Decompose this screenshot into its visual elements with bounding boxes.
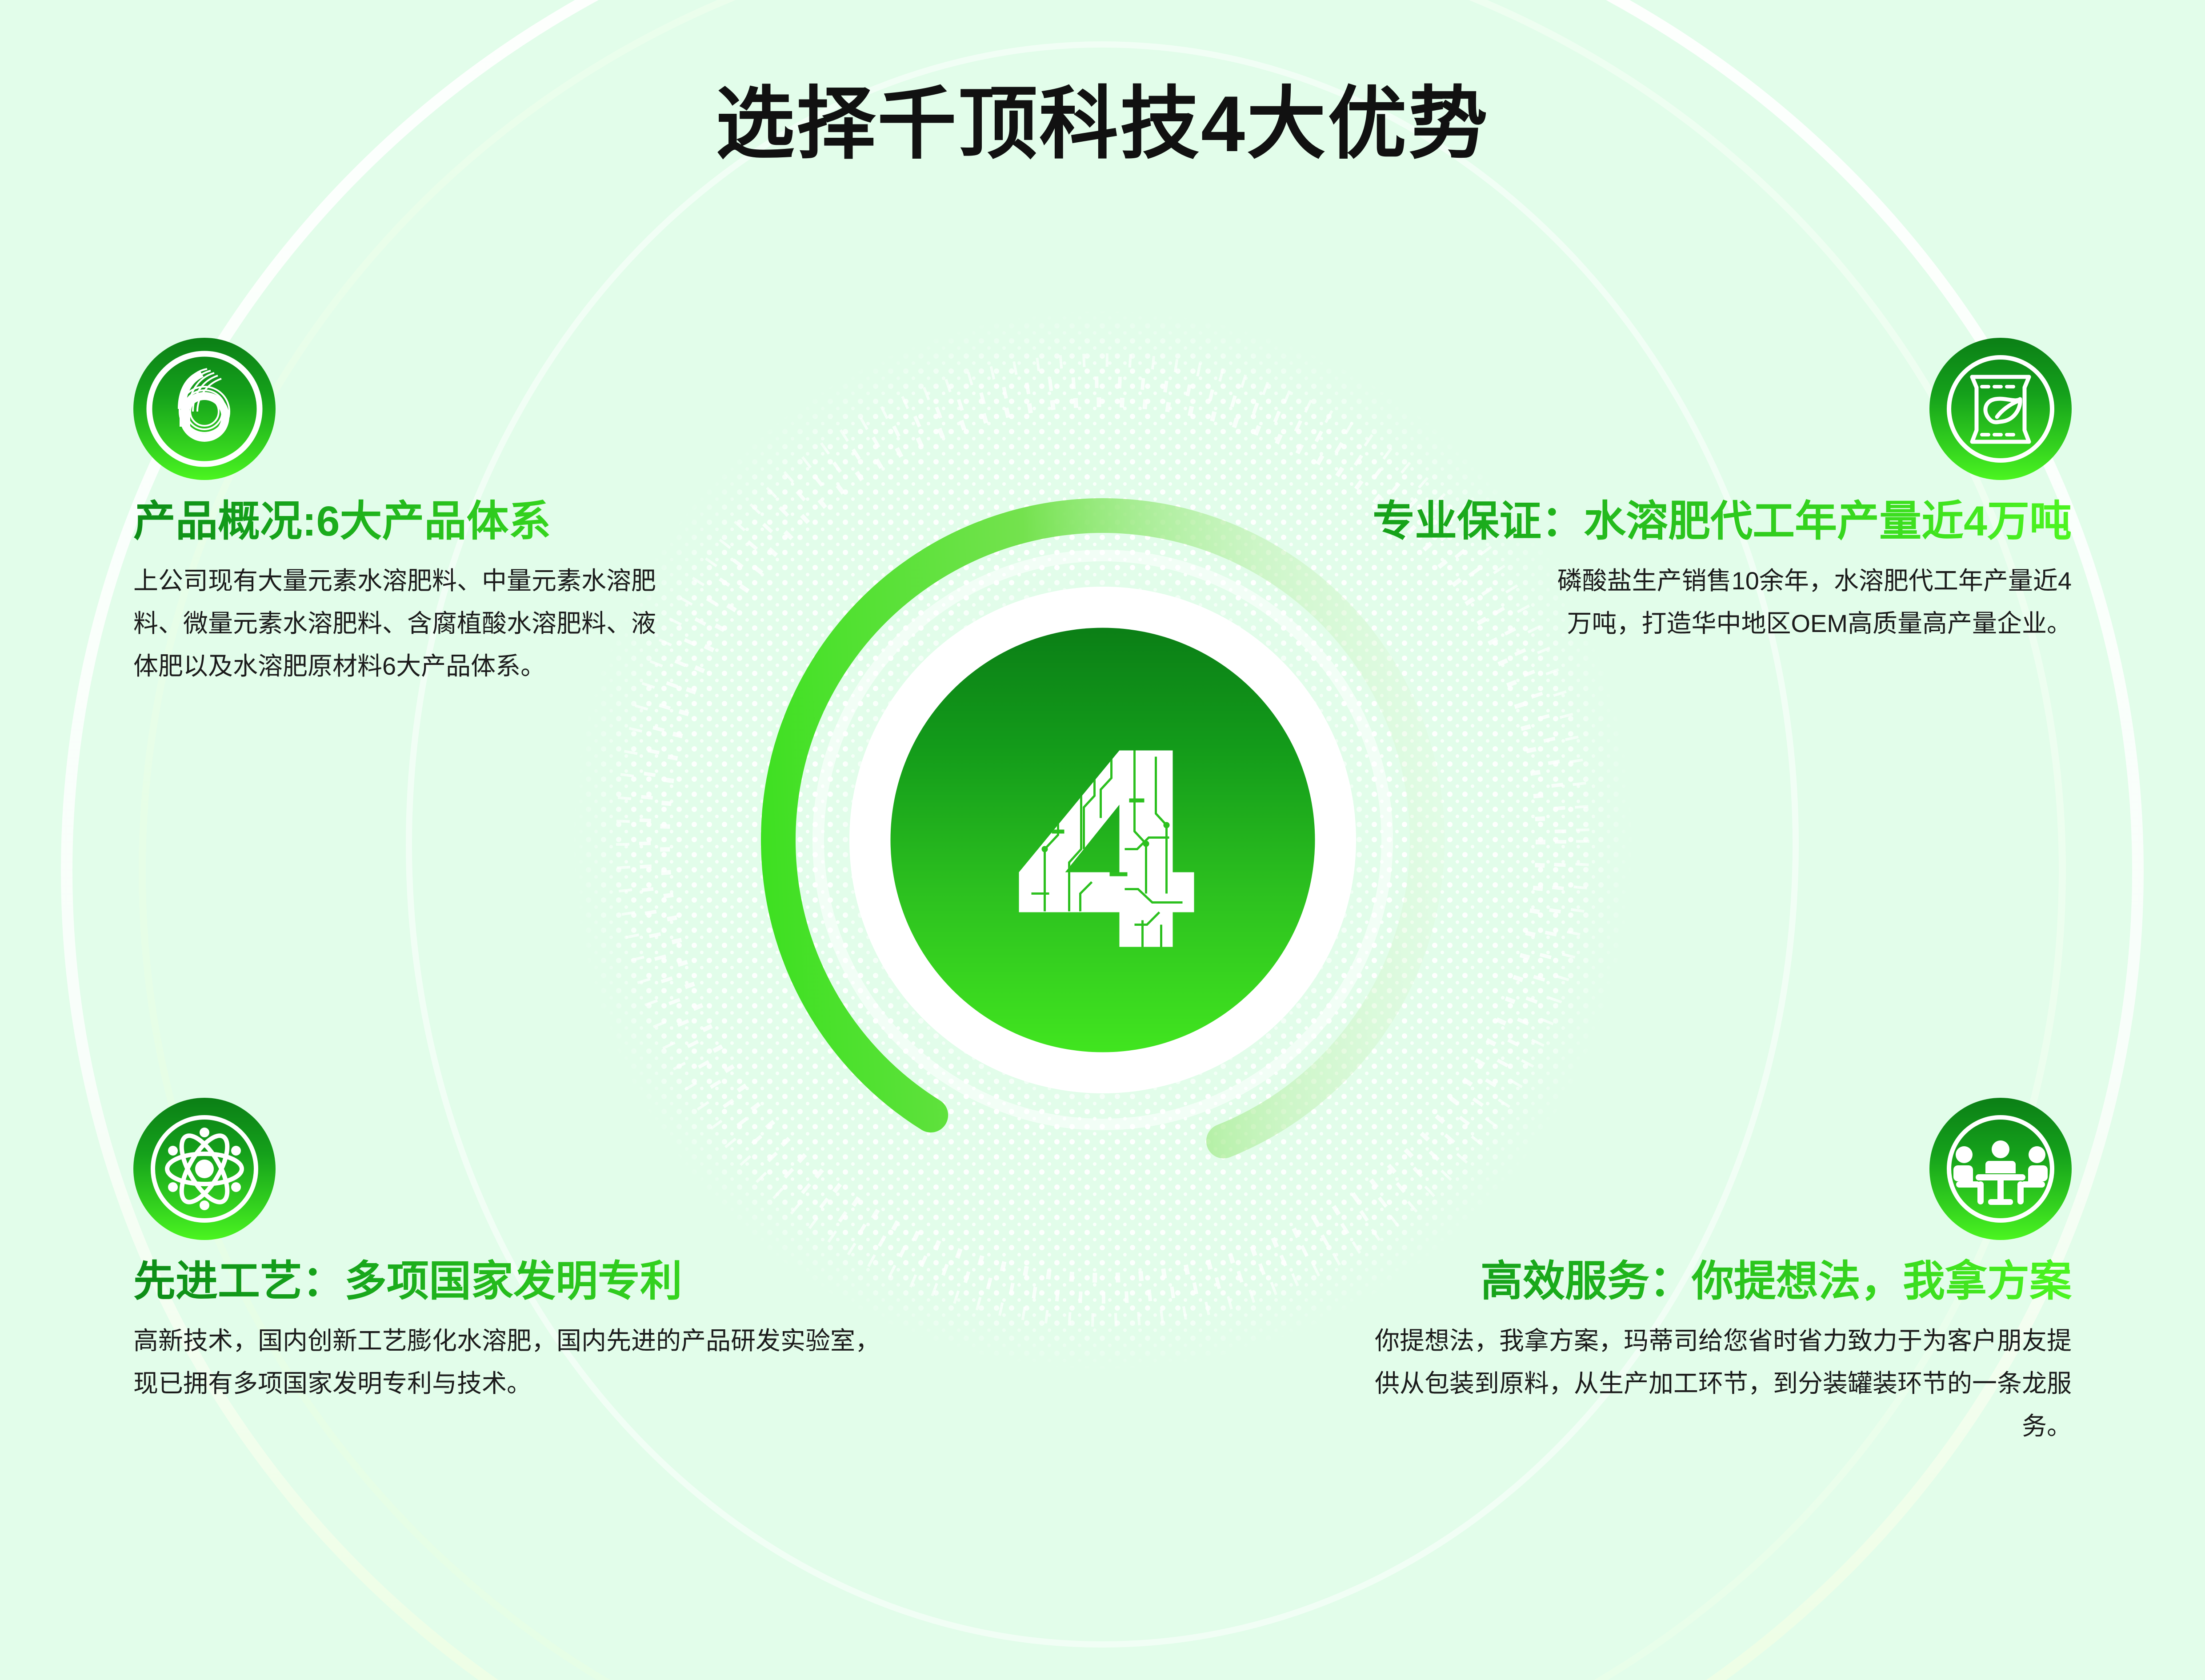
number-four-circuit-icon — [978, 716, 1227, 964]
core-circle — [890, 628, 1315, 1052]
meeting-service-icon — [1929, 1098, 2072, 1240]
poster-stage: 选择千顶科技4大优势 — [0, 0, 2205, 1680]
advantage-body: 高新技术，国内创新工艺膨化水溶肥，国内先进的产品研发实验室，现已拥有多项国家发明… — [133, 1320, 889, 1405]
advantage-heading: 产品概况:6大产品体系 — [133, 499, 720, 544]
advantage-body: 磷酸盐生产销售10余年，水溶肥代工年产量近4万吨，打造华中地区OEM高质量高产量… — [1556, 560, 2072, 645]
advantage-block-top-right: 专业保证：水溶肥代工年产量近4万吨 磷酸盐生产销售10余年，水溶肥代工年产量近4… — [1201, 338, 2072, 645]
advantage-body: 你提想法，我拿方案，玛蒂司给您省时省力致力于为客户朋友提供从包装到原料，从生产加… — [1352, 1320, 2072, 1448]
six-spiral-icon — [133, 338, 276, 480]
atom-icon — [133, 1098, 276, 1240]
advantage-body: 上公司现有大量元素水溶肥料、中量元素水溶肥料、微量元素水溶肥料、含腐植酸水溶肥料… — [133, 560, 680, 688]
advantage-heading: 高效服务：你提想法，我拿方案 — [1316, 1259, 2072, 1304]
advantage-block-top-left: 产品概况:6大产品体系 上公司现有大量元素水溶肥料、中量元素水溶肥料、微量元素水… — [133, 338, 720, 688]
page-title: 选择千顶科技4大优势 — [0, 84, 2205, 164]
advantage-block-bottom-left: 先进工艺：多项国家发明专利 高新技术，国内创新工艺膨化水溶肥，国内先进的产品研发… — [133, 1098, 916, 1405]
fertilizer-bag-icon — [1929, 338, 2072, 480]
advantage-heading: 专业保证：水溶肥代工年产量近4万吨 — [1201, 499, 2072, 544]
advantage-block-bottom-right: 高效服务：你提想法，我拿方案 你提想法，我拿方案，玛蒂司给您省时省力致力于为客户… — [1316, 1098, 2072, 1448]
advantage-heading: 先进工艺：多项国家发明专利 — [133, 1259, 916, 1304]
